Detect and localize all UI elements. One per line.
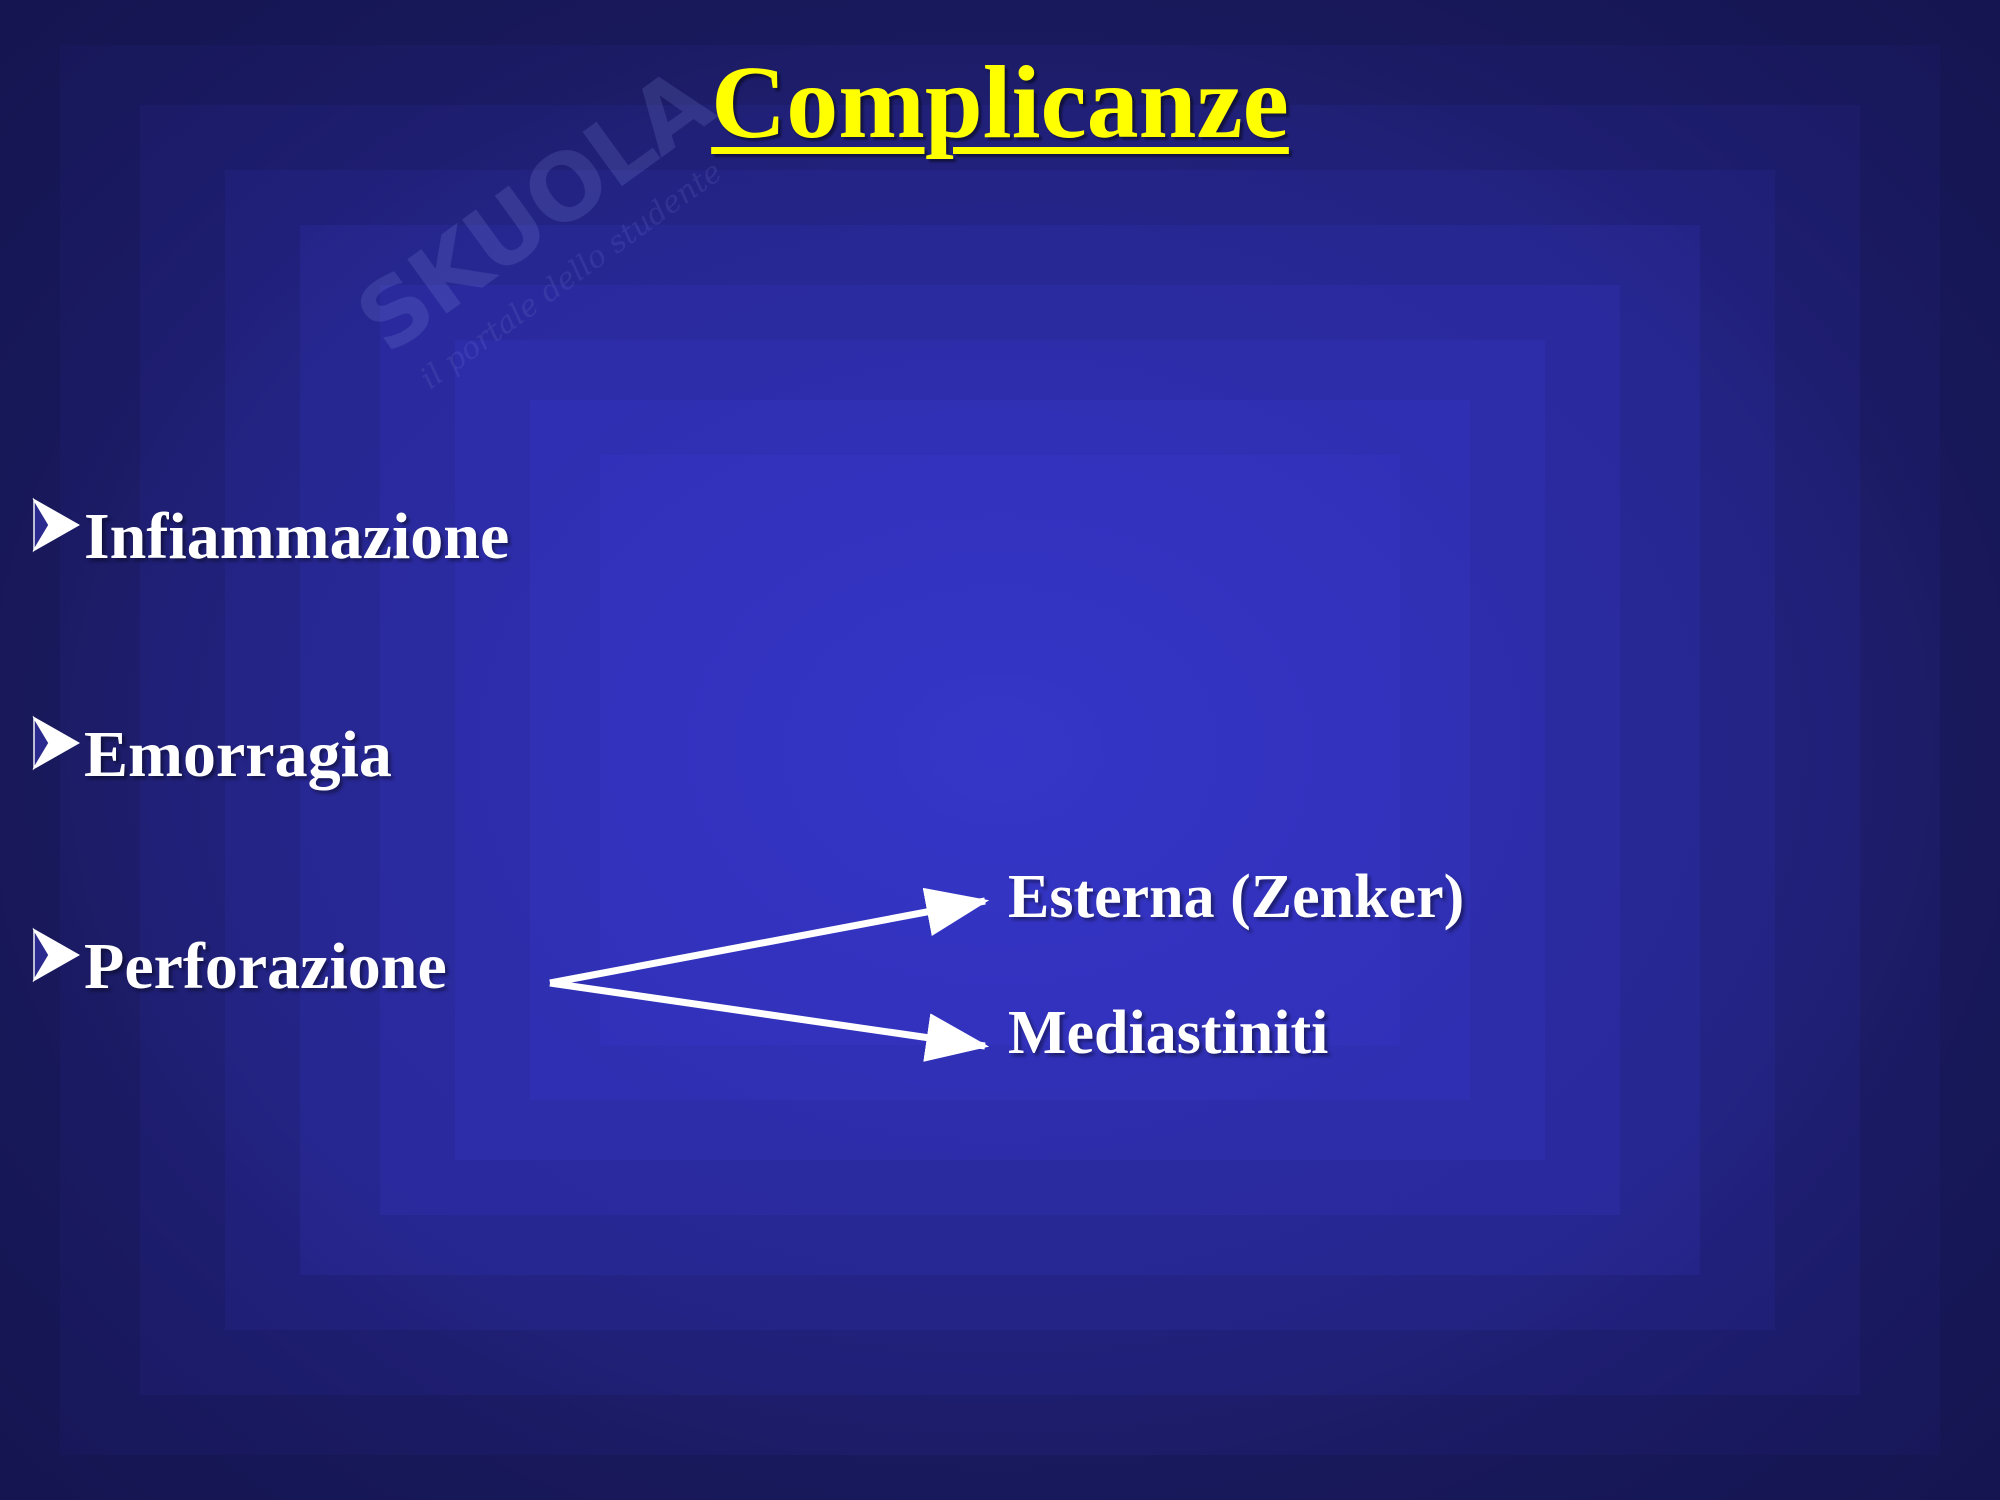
background-ring-8: [600, 455, 1400, 1045]
background-ring-6: [455, 340, 1545, 1160]
background-ring-3: [225, 170, 1775, 1330]
bullet-item-infiammazione: Infiammazione: [22, 500, 509, 570]
background-ring-7: [530, 400, 1470, 1100]
bullet-item-emorragia: Emorragia: [22, 718, 392, 788]
bullet-label: Emorragia: [84, 722, 392, 788]
branch-label-esterna-zenker: Esterna (Zenker): [1008, 866, 1464, 928]
arrowhead-bullet-icon: [22, 714, 84, 772]
bullet-label: Infiammazione: [84, 504, 509, 570]
background-ring-5: [380, 285, 1620, 1215]
connector-to-mediastiniti: [550, 983, 985, 1046]
bullet-label: Perforazione: [84, 934, 447, 1000]
bullet-item-perforazione: Perforazione: [22, 930, 447, 1000]
arrowhead-bullet-icon: [22, 926, 84, 984]
arrowhead-bullet-icon: [22, 496, 84, 554]
presentation-slide: SKUOLA il portale dello studente Complic…: [0, 0, 2000, 1500]
slide-title: Complicanze: [0, 48, 2000, 158]
background-ring-2: [140, 105, 1860, 1395]
connector-to-esterna: [550, 901, 985, 983]
branch-label-mediastiniti: Mediastiniti: [1008, 1002, 1328, 1064]
background-ring-4: [300, 225, 1700, 1275]
